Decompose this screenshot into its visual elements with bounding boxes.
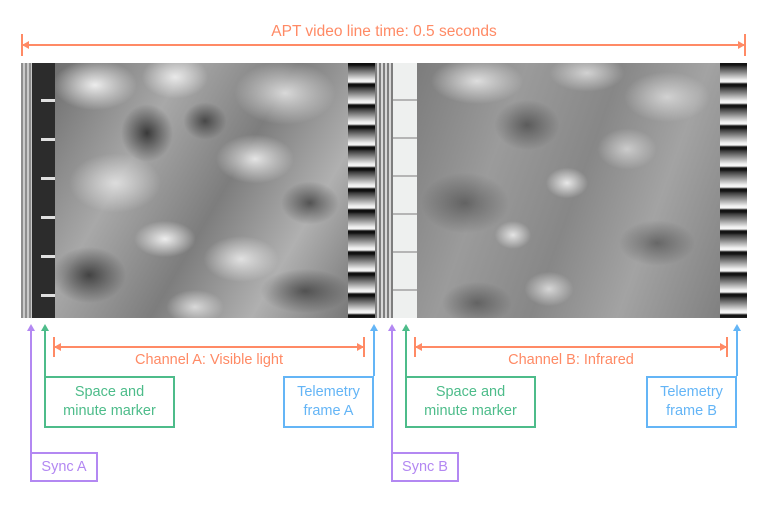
minute-marker-ticks-a	[41, 63, 55, 318]
leader-telemetry-a-arrowhead	[370, 324, 378, 331]
channel-a-label: Channel A: Visible light	[53, 351, 365, 370]
space-minute-marker-a-box: Space and minute marker	[44, 376, 175, 428]
leader-space-b	[405, 330, 407, 376]
band-sync-b	[375, 63, 393, 318]
earth-image-channel-b	[417, 63, 720, 318]
channel-a-span-line	[53, 346, 365, 348]
telemetry-frame-a-box: Telemetry frame A	[283, 376, 374, 428]
leader-telemetry-b	[736, 330, 738, 376]
apt-line-time-label: APT video line time: 0.5 seconds	[0, 22, 768, 42]
band-space-minute-marker-b	[393, 63, 417, 318]
channel-a-right-arrowhead	[357, 343, 364, 351]
leader-space-b-arrowhead	[402, 324, 410, 331]
channel-b-left-arrowhead	[415, 343, 422, 351]
band-sync-a	[21, 63, 32, 318]
space-minute-marker-b-box: Space and minute marker	[405, 376, 536, 428]
channel-b-span-line	[414, 346, 728, 348]
channel-b-right-arrowhead	[720, 343, 727, 351]
sync-a-box: Sync A	[30, 452, 98, 482]
band-telemetry-frame-a	[348, 63, 375, 318]
apt-video-line-image	[21, 63, 747, 318]
top-measure-line	[21, 44, 746, 46]
leader-telemetry-b-arrowhead	[733, 324, 741, 331]
leader-telemetry-a	[373, 330, 375, 376]
leader-sync-b-arrowhead	[388, 324, 396, 331]
channel-a-left-arrowhead	[54, 343, 61, 351]
earth-image-channel-a	[55, 63, 348, 318]
apt-line-diagram: APT video line time: 0.5 seconds	[0, 0, 768, 505]
top-measure-right-arrowhead	[738, 41, 745, 49]
leader-sync-a-arrowhead	[27, 324, 35, 331]
sync-b-box: Sync B	[391, 452, 459, 482]
telemetry-frame-b-box: Telemetry frame B	[646, 376, 737, 428]
leader-space-a	[44, 330, 46, 376]
minute-marker-ticks-b	[393, 63, 417, 318]
band-telemetry-frame-b	[720, 63, 747, 318]
channel-b-label: Channel B: Infrared	[414, 351, 728, 370]
leader-space-a-arrowhead	[41, 324, 49, 331]
band-space-minute-marker-a	[32, 63, 55, 318]
top-measure-left-arrowhead	[22, 41, 29, 49]
